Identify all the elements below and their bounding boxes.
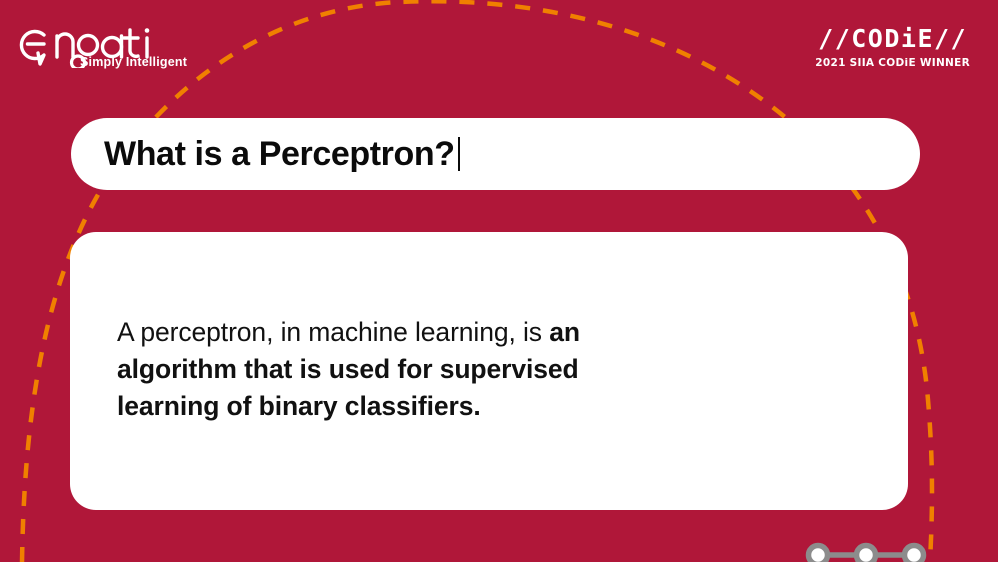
codie-award-badge: //CODiE// 2021 SIIA CODiE WINNER (815, 26, 970, 69)
brand-tagline: Simply Intelligent (80, 55, 187, 69)
title-card[interactable]: What is a Perceptron? (71, 118, 920, 190)
neural-network-icon (798, 535, 934, 562)
codie-mark-text: //CODiE// (815, 26, 970, 51)
slide-canvas: Simply Intelligent //CODiE// 2021 SIIA C… (0, 0, 998, 562)
page-title: What is a Perceptron? (104, 137, 460, 171)
answer-lead-text: A perceptron, in machine learning, is (117, 317, 549, 347)
codie-caption-text: 2021 SIIA CODiE WINNER (815, 58, 970, 69)
answer-text: A perceptron, in machine learning, is an… (117, 314, 637, 425)
text-cursor-caret (458, 137, 460, 171)
brand-logo: Simply Intelligent (16, 22, 216, 80)
page-title-text: What is a Perceptron? (104, 135, 455, 173)
answer-card: A perceptron, in machine learning, is an… (70, 232, 908, 510)
